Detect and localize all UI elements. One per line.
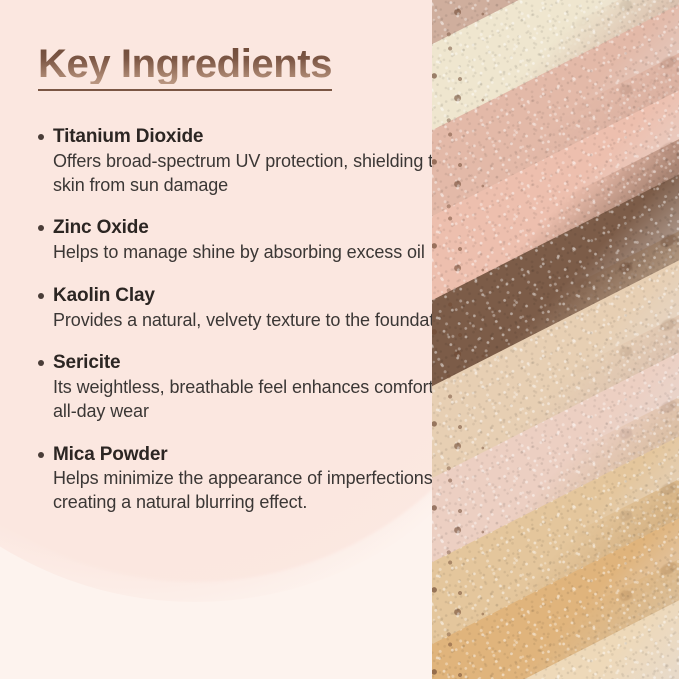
ingredient-item: SericiteIts weightless, breathable feel … (38, 351, 470, 423)
ingredient-heading-row: Sericite (38, 351, 470, 375)
ingredient-name: Mica Powder (53, 443, 168, 467)
bullet-icon (38, 360, 44, 366)
ingredient-item: Titanium DioxideOffers broad-spectrum UV… (38, 125, 470, 197)
page-title-group: Key Ingredients (38, 44, 332, 91)
ingredient-heading-row: Zinc Oxide (38, 216, 470, 240)
ingredient-description: Offers broad-spectrum UV protection, shi… (53, 150, 470, 198)
ingredient-description: Helps minimize the appearance of imperfe… (53, 467, 470, 515)
ingredient-item: Mica PowderHelps minimize the appearance… (38, 443, 470, 515)
page-title: Key Ingredients (38, 44, 332, 84)
ingredient-name: Kaolin Clay (53, 284, 155, 308)
powder-swatch-bands (432, 0, 679, 679)
ingredients-list: Titanium DioxideOffers broad-spectrum UV… (38, 125, 470, 515)
ingredient-item: Zinc OxideHelps to manage shine by absor… (38, 216, 470, 265)
ingredient-description: Provides a natural, velvety texture to t… (53, 309, 470, 333)
bullet-icon (38, 293, 44, 299)
bullet-icon (38, 452, 44, 458)
ingredient-name: Zinc Oxide (53, 216, 149, 240)
ingredient-heading-row: Kaolin Clay (38, 284, 470, 308)
ingredient-name: Titanium Dioxide (53, 125, 203, 149)
ingredient-name: Sericite (53, 351, 120, 375)
infographic-canvas: Key Ingredients Titanium DioxideOffers b… (0, 0, 679, 679)
ingredient-item: Kaolin ClayProvides a natural, velvety t… (38, 284, 470, 333)
ingredient-heading-row: Mica Powder (38, 443, 470, 467)
ingredient-description: Helps to manage shine by absorbing exces… (53, 241, 470, 265)
ingredients-panel: Key Ingredients Titanium DioxideOffers b… (0, 0, 470, 679)
powder-swatch-image (432, 0, 679, 679)
bullet-icon (38, 134, 44, 140)
bullet-icon (38, 225, 44, 231)
ingredient-heading-row: Titanium Dioxide (38, 125, 470, 149)
ingredient-description: Its weightless, breathable feel enhances… (53, 376, 470, 424)
title-underline (38, 89, 332, 91)
